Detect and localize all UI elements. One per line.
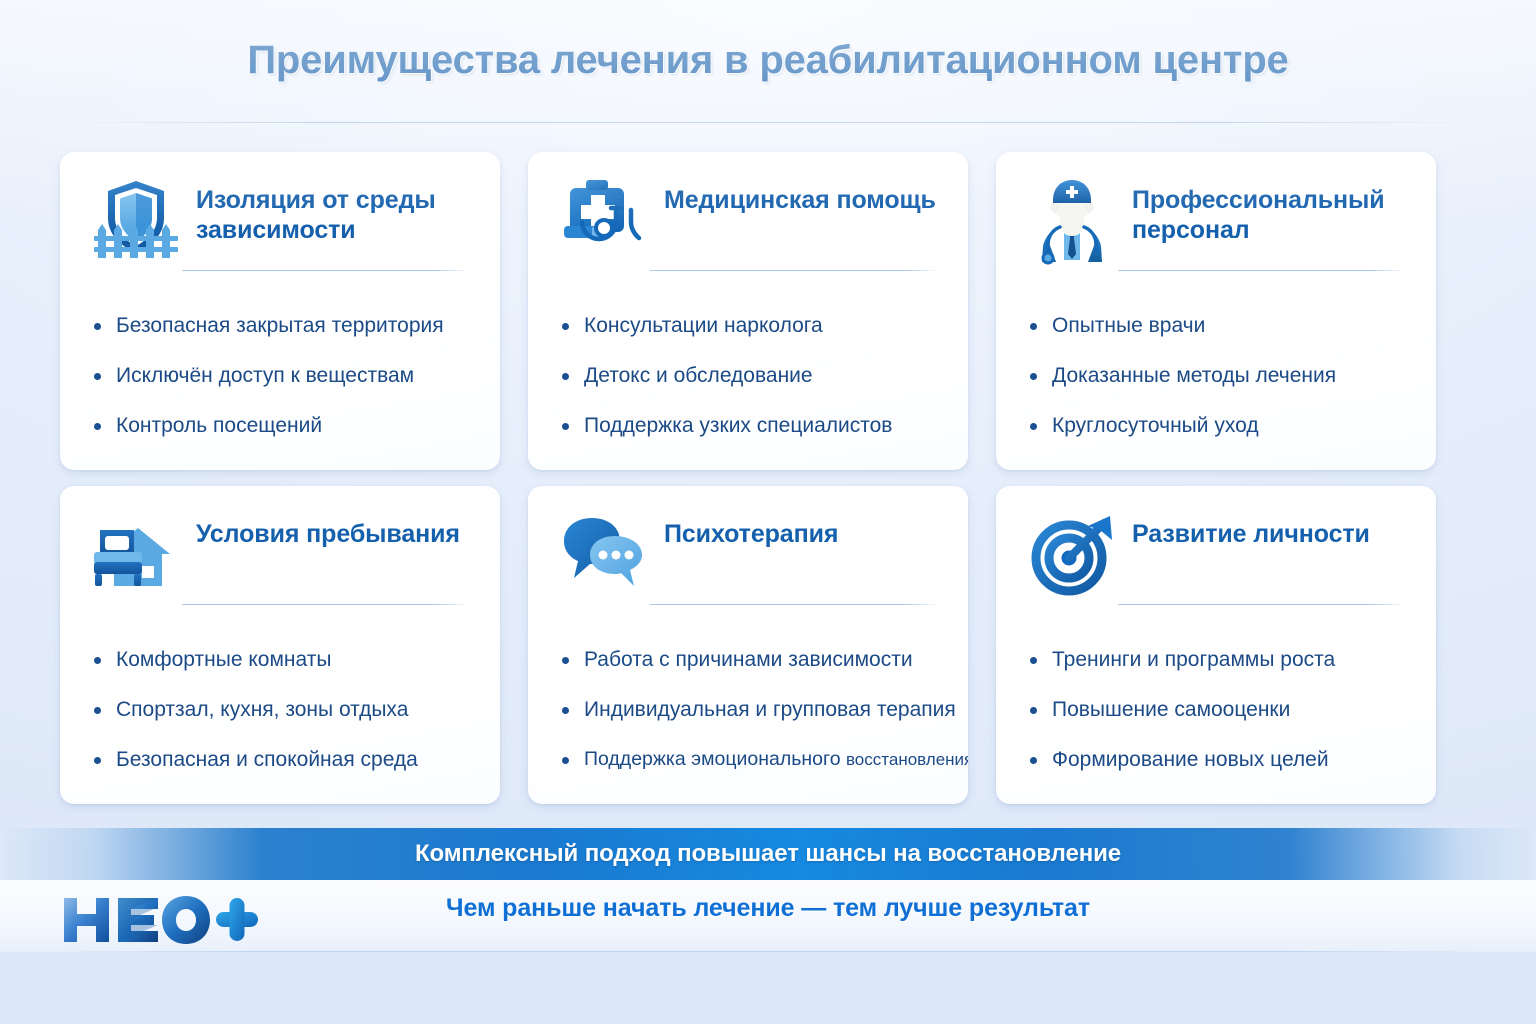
benefit-card-professional-staff: Профессиональный персонал Опытные врачи …	[996, 152, 1436, 470]
benefit-card-personal-growth: Развитие личности Тренинги и программы р…	[996, 486, 1436, 804]
infographic-page: Преимущества лечения в реабилитационном …	[0, 0, 1536, 1024]
card-divider	[182, 604, 470, 605]
card-header: Профессиональный персонал	[1026, 178, 1406, 270]
footer-tagline-container: Чем раньше начать лечение — тем лучше ре…	[0, 894, 1536, 923]
list-item: Формирование новых целей	[1026, 748, 1406, 772]
benefit-card-living-conditions: Условия пребывания Комфортные комнаты Сп…	[60, 486, 500, 804]
list-item: Тренинги и программы роста	[1026, 648, 1406, 672]
bed-house-icon	[90, 508, 182, 600]
shield-fence-icon	[90, 174, 182, 266]
list-item: Повышение самооценки	[1026, 698, 1406, 722]
card-title: Условия пребывания	[196, 512, 460, 550]
card-divider	[1118, 604, 1406, 605]
page-title-container: Преимущества лечения в реабилитационном …	[0, 38, 1536, 83]
card-divider	[182, 270, 470, 271]
list-item: Контроль посещений	[90, 414, 470, 438]
medical-kit-stethoscope-icon	[558, 174, 650, 266]
doctor-icon	[1026, 174, 1118, 266]
list-item: Исключён доступ к веществам	[90, 364, 470, 388]
target-arrow-icon	[1026, 508, 1118, 600]
card-divider	[1118, 270, 1406, 271]
list-item: Работа с причинами зависимости	[558, 648, 938, 672]
card-bullet-list: Безопасная закрытая территория Исключён …	[90, 270, 470, 438]
list-item: Безопасная закрытая территория	[90, 314, 470, 338]
list-item-tail: восстановления	[846, 750, 968, 769]
card-title: Психотерапия	[664, 512, 838, 550]
card-title: Изоляция от среды зависимости	[196, 178, 470, 245]
list-item: Детокс и обследование	[558, 364, 938, 388]
benefit-card-isolation: Изоляция от среды зависимости Безопасная…	[60, 152, 500, 470]
list-item: Опытные врачи	[1026, 314, 1406, 338]
list-item: Безопасная и спокойная среда	[90, 748, 470, 772]
footer-tagline: Чем раньше начать лечение — тем лучше ре…	[446, 894, 1090, 923]
list-item: Комфортные комнаты	[90, 648, 470, 672]
card-title: Профессиональный персонал	[1132, 178, 1406, 245]
card-divider	[650, 270, 938, 271]
list-item: Поддержка узких специалистов	[558, 414, 938, 438]
footer-banner: Комплексный подход повышает шансы на вос…	[0, 828, 1536, 880]
speech-bubbles-icon	[558, 508, 650, 600]
list-item: Поддержка эмоционального восстановления	[558, 748, 938, 770]
card-header: Медицинская помощь	[558, 178, 938, 270]
list-item-lead: Поддержка эмоционального	[584, 748, 846, 770]
card-header: Психотерапия	[558, 512, 938, 604]
benefit-card-psychotherapy: Психотерапия Работа с причинами зависимо…	[528, 486, 968, 804]
card-bullet-list: Тренинги и программы роста Повышение сам…	[1026, 604, 1406, 772]
card-title: Развитие личности	[1132, 512, 1370, 550]
card-header: Изоляция от среды зависимости	[90, 178, 470, 270]
list-item: Доказанные методы лечения	[1026, 364, 1406, 388]
card-header: Условия пребывания	[90, 512, 470, 604]
list-item: Спортзал, кухня, зоны отдыха	[90, 698, 470, 722]
card-bullet-list: Опытные врачи Доказанные методы лечения …	[1026, 270, 1406, 438]
card-bullet-list: Консультации нарколога Детокс и обследов…	[558, 270, 938, 438]
card-bullet-list: Работа с причинами зависимости Индивидуа…	[558, 604, 938, 771]
card-header: Развитие личности	[1026, 512, 1406, 604]
page-title: Преимущества лечения в реабилитационном …	[247, 38, 1288, 83]
benefit-card-grid: Изоляция от среды зависимости Безопасная…	[60, 152, 1476, 804]
title-divider	[60, 122, 1476, 123]
card-bullet-list: Комфортные комнаты Спортзал, кухня, зоны…	[90, 604, 470, 772]
benefit-card-medical-help: Медицинская помощь Консультации нарколог…	[528, 152, 968, 470]
card-title: Медицинская помощь	[664, 178, 936, 216]
card-divider	[650, 604, 938, 605]
footer-banner-text: Комплексный подход повышает шансы на вос…	[415, 840, 1121, 868]
list-item: Индивидуальная и групповая терапия	[558, 698, 938, 722]
list-item: Круглосуточный уход	[1026, 414, 1406, 438]
list-item: Консультации нарколога	[558, 314, 938, 338]
